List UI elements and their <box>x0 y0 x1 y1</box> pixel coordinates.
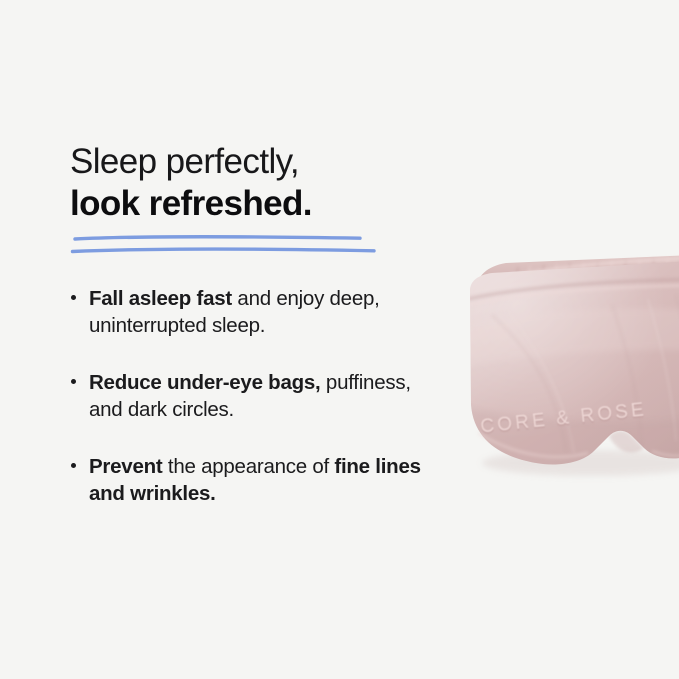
benefit-list: Fall asleep fast and enjoy deep, uninter… <box>70 285 430 507</box>
bullet-dot-icon <box>71 463 76 468</box>
headline-underline <box>72 233 392 259</box>
benefit-3-rest: the appearance of <box>162 455 334 478</box>
list-item: Reduce under-eye bags, puffiness, and da… <box>70 369 430 423</box>
sleep-mask-product-photo: CORE & ROSE CORE & ROSE <box>462 255 679 480</box>
benefit-1-bold-lead: Fall asleep fast <box>89 287 232 310</box>
bullet-dot-icon <box>71 295 76 300</box>
headline-line-2: look refreshed. <box>70 182 430 225</box>
benefit-2-bold-lead: Reduce under-eye bags, <box>89 371 320 394</box>
benefit-text-2: Reduce under-eye bags, puffiness, and da… <box>89 369 430 423</box>
bullet-dot-icon <box>71 379 76 384</box>
benefit-3-bold-lead: Prevent <box>89 455 162 478</box>
benefit-text-1: Fall asleep fast and enjoy deep, uninter… <box>89 285 430 339</box>
list-item: Fall asleep fast and enjoy deep, uninter… <box>70 285 430 339</box>
promo-image-canvas: Sleep perfectly, look refreshed. Fall as… <box>0 0 679 679</box>
benefit-text-3: Prevent the appearance of fine lines and… <box>89 453 430 507</box>
headline: Sleep perfectly, look refreshed. <box>70 140 430 225</box>
headline-line-1: Sleep perfectly, <box>70 140 430 183</box>
list-item: Prevent the appearance of fine lines and… <box>70 453 430 507</box>
mask-body: CORE & ROSE CORE & ROSE <box>452 255 679 480</box>
marketing-copy-block: Sleep perfectly, look refreshed. Fall as… <box>70 140 430 507</box>
